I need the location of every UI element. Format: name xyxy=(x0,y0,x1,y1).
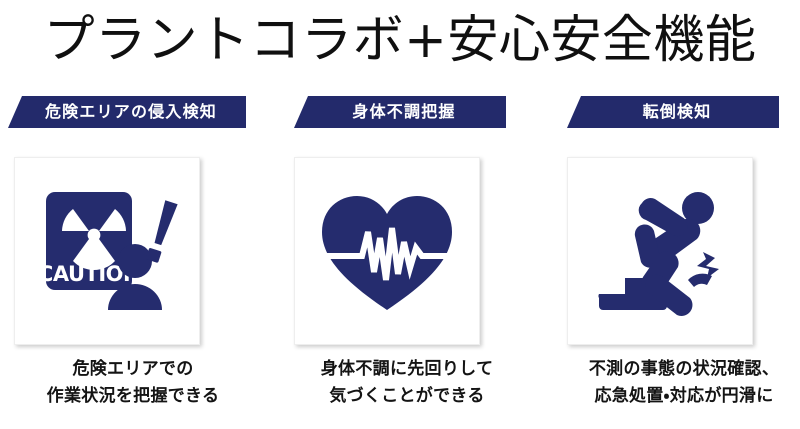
banner-label: 危険エリアの侵入検知 xyxy=(45,104,217,120)
feature-column-fall: 転倒検知 xyxy=(551,96,800,429)
feature-column-danger-area: 危険エリアの侵入検知 CAUTION xyxy=(8,96,258,429)
caption-health: 身体不調に先回りして 気づくことができる xyxy=(282,356,532,410)
caption-fall: 不測の事態の状況確認、 応急処置・対応が円滑に xyxy=(559,356,800,410)
caption-danger-area: 危険エリアでの 作業状況を把握できる xyxy=(8,356,258,410)
heart-ecg-icon xyxy=(312,176,462,326)
banner-label: 転倒検知 xyxy=(643,104,712,120)
icon-card-danger-area: CAUTION xyxy=(14,157,200,345)
banner-health: 身体不調把握 xyxy=(294,96,506,128)
banner-danger-area: 危険エリアの侵入検知 xyxy=(8,96,246,128)
icon-card-health xyxy=(294,157,480,345)
page-title: プラントコラボ+安心安全機能 xyxy=(0,4,800,78)
person-falling-step-icon xyxy=(585,176,735,326)
banner-label: 身体不調把握 xyxy=(352,104,455,120)
banner-fall: 転倒検知 xyxy=(567,96,779,128)
caution-radiation-person-icon: CAUTION xyxy=(32,176,182,326)
caption-line-2: 応急処置・対応が円滑に xyxy=(559,383,800,410)
caption-line-2: 気づくことができる xyxy=(282,383,532,410)
caption-line-1: 身体不調に先回りして xyxy=(282,356,532,383)
feature-column-health: 身体不調把握 身体不調に先回りして 気づくことができる xyxy=(278,96,528,429)
feature-columns: 危険エリアの侵入検知 CAUTION xyxy=(0,96,800,429)
icon-card-fall xyxy=(567,157,753,345)
caption-line-1: 不測の事態の状況確認、 xyxy=(559,356,800,383)
caption-line-2: 作業状況を把握できる xyxy=(8,383,258,410)
caption-line-1: 危険エリアでの xyxy=(8,356,258,383)
